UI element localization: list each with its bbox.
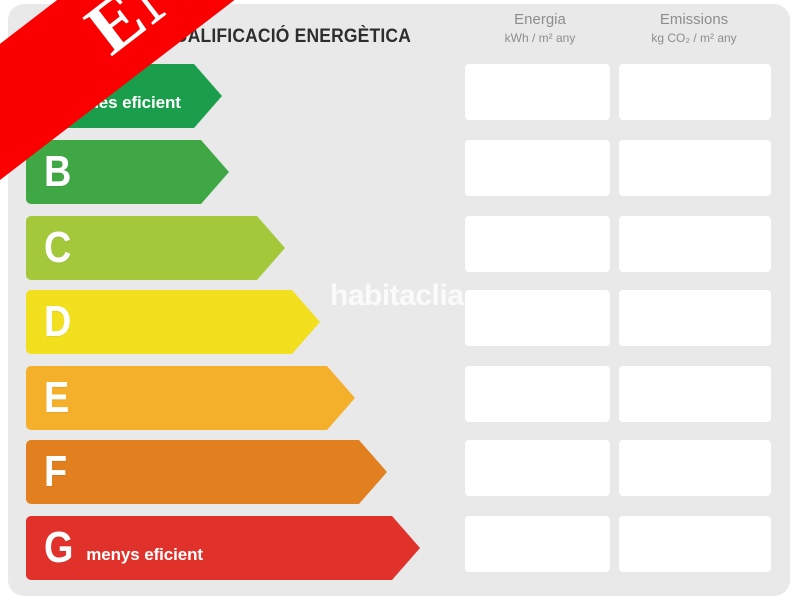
rating-band-arrow-tip (194, 64, 222, 128)
rating-band-body (26, 516, 392, 580)
column-header-energia-title: Energia (465, 10, 615, 30)
rating-band-arrow-tip (292, 290, 320, 354)
rating-band-e: E (26, 366, 355, 430)
column-header-emissions-units: kg CO₂ / m² any (619, 30, 769, 46)
value-cell-energia-c (465, 216, 610, 272)
rating-band-arrow-tip (257, 216, 285, 280)
column-header-energia: Energia kWh / m² any (465, 10, 615, 46)
rating-band-f: F (26, 440, 387, 504)
value-cell-emissions-e (619, 366, 771, 422)
rating-band-letter: B (44, 150, 71, 194)
value-cell-emissions-d (619, 290, 771, 346)
value-cell-emissions-g (619, 516, 771, 572)
value-cell-emissions-a (619, 64, 771, 120)
rating-band-letter: G (44, 526, 73, 570)
value-cell-emissions-b (619, 140, 771, 196)
value-cell-emissions-c (619, 216, 771, 272)
rating-band-arrow-tip (392, 516, 420, 580)
rating-band-c: C (26, 216, 285, 280)
column-header-energia-units: kWh / m² any (465, 30, 615, 46)
rating-band-letter: F (44, 450, 67, 494)
rating-band-b: B (26, 140, 229, 204)
column-header-emissions: Emissions kg CO₂ / m² any (619, 10, 769, 46)
value-cell-energia-b (465, 140, 610, 196)
value-cell-energia-a (465, 64, 610, 120)
value-cell-emissions-f (619, 440, 771, 496)
rating-band-arrow-tip (201, 140, 229, 204)
rating-band-d: D (26, 290, 320, 354)
energy-certificate-image: ESCALA DE LA QUALIFICACIÓ ENERGÈTICA Ene… (0, 0, 798, 600)
rating-band-body (26, 366, 327, 430)
value-cell-energia-d (465, 290, 610, 346)
value-cell-energia-e (465, 366, 610, 422)
rating-band-arrow-tip (327, 366, 355, 430)
value-cell-energia-f (465, 440, 610, 496)
rating-band-letter: E (44, 376, 69, 420)
rating-band-letter: C (44, 226, 71, 270)
rating-band-caption: menys eficient (86, 545, 203, 565)
rating-band-arrow-tip (359, 440, 387, 504)
rating-band-g: Gmenys eficient (26, 516, 420, 580)
rating-band-letter: D (44, 300, 71, 344)
value-cell-energia-g (465, 516, 610, 572)
column-header-emissions-title: Emissions (619, 10, 769, 30)
rating-band-body (26, 440, 359, 504)
